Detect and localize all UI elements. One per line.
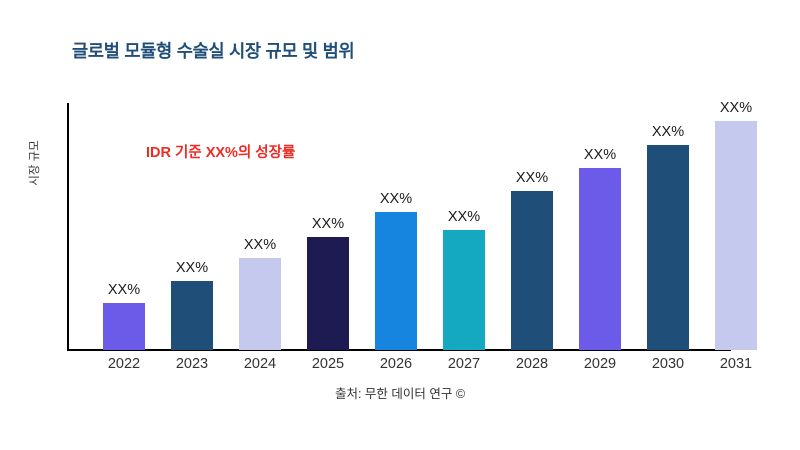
bar[interactable]: [307, 237, 349, 350]
bar-value-label: XX%: [702, 100, 770, 116]
x-tick-label: 2031: [702, 356, 770, 372]
bar[interactable]: [715, 121, 757, 350]
bar-value-label: XX%: [566, 147, 634, 163]
bar[interactable]: [443, 230, 485, 350]
x-tick-label: 2025: [294, 356, 362, 372]
bar-value-label: XX%: [294, 216, 362, 232]
x-tick-label: 2027: [430, 356, 498, 372]
bar[interactable]: [103, 303, 145, 350]
bar[interactable]: [375, 212, 417, 350]
x-tick-label: 2030: [634, 356, 702, 372]
x-tick-label: 2022: [90, 356, 158, 372]
x-tick-label: 2028: [498, 356, 566, 372]
bar-value-label: XX%: [362, 191, 430, 207]
bar-chart: 글로벌 모듈형 수술실 시장 규모 및 범위 IDR 기준 XX%의 성장률 시…: [0, 0, 800, 450]
bar[interactable]: [511, 191, 553, 350]
bar[interactable]: [647, 145, 689, 350]
bar-value-label: XX%: [158, 260, 226, 276]
bar-value-label: XX%: [634, 124, 702, 140]
bar[interactable]: [171, 281, 213, 350]
x-tick-label: 2023: [158, 356, 226, 372]
bar[interactable]: [239, 258, 281, 350]
x-tick-label: 2029: [566, 356, 634, 372]
x-tick-label: 2026: [362, 356, 430, 372]
bar-value-label: XX%: [430, 209, 498, 225]
source-note: 출처: 무한 데이터 연구 ©: [0, 383, 800, 402]
bar-value-label: XX%: [498, 170, 566, 186]
x-tick-label: 2024: [226, 356, 294, 372]
bar-value-label: XX%: [90, 282, 158, 298]
bar-value-label: XX%: [226, 237, 294, 253]
bar[interactable]: [579, 168, 621, 350]
